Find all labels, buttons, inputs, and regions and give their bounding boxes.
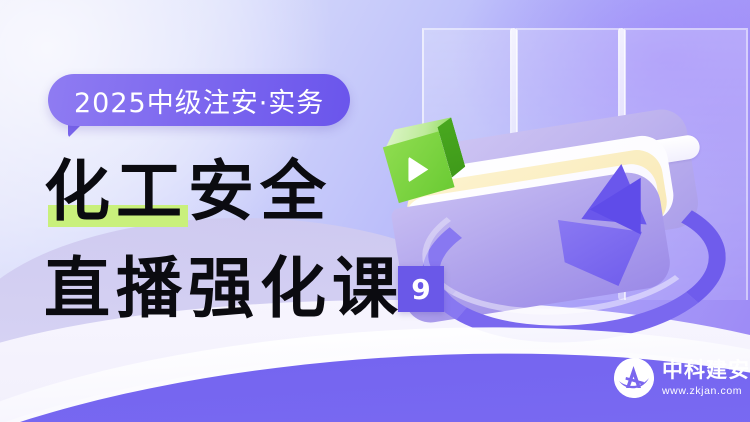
episode-number-badge: 9: [398, 266, 444, 312]
page-title-line-1: 化工安全: [44, 158, 332, 224]
page-title-line-2: 直播强化课: [44, 255, 404, 321]
mountain-swoosh-logo-icon: [614, 358, 654, 398]
play-triangle-icon: [408, 156, 428, 182]
episode-number-label: 9: [411, 273, 430, 306]
course-banner: 2025中级注安·实务 化工安全 直播强化课 9 中科建安 www.zkjan.…: [0, 0, 750, 422]
course-category-badge: 2025中级注安·实务: [48, 74, 350, 126]
brand-logo-text: 中科建安 www.zkjan.com: [662, 360, 750, 397]
brand-url: www.zkjan.com: [662, 386, 750, 397]
brand-logo: 中科建安 www.zkjan.com: [614, 358, 750, 398]
brand-name: 中科建安: [662, 360, 750, 381]
course-category-label: 2025中级注安·实务: [74, 81, 324, 120]
badge-pill-tail: [68, 124, 82, 138]
illustration-group: [398, 0, 750, 352]
